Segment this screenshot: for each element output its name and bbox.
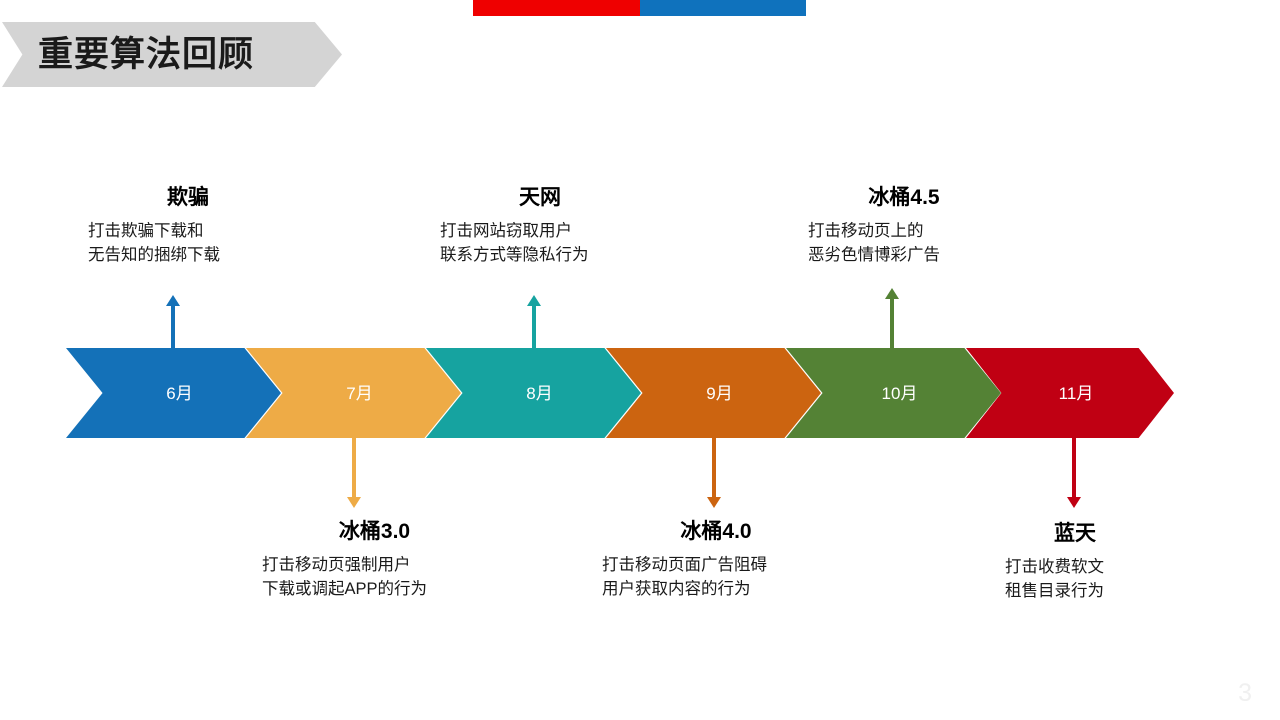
callout-bingtong-4-0: 冰桶4.0打击移动页面广告阻碍 用户获取内容的行为 <box>602 520 830 602</box>
timeline-step-6月[interactable]: 6月 <box>66 348 281 438</box>
callout-bingtong-4-5: 冰桶4.5打击移动页上的 恶劣色情博彩广告 <box>808 186 1000 268</box>
callout-heading: 冰桶3.0 <box>262 520 487 544</box>
connector-up-tianwang <box>527 295 541 350</box>
topbar-blue-segment <box>640 0 806 16</box>
callout-heading: 蓝天 <box>1005 522 1145 546</box>
callout-description: 打击移动页强制用户 下载或调起APP的行为 <box>262 554 487 602</box>
timeline-step-label: 8月 <box>526 385 552 402</box>
arrow-stem <box>352 436 356 499</box>
arrow-stem <box>890 297 894 350</box>
arrow-stem <box>712 436 716 499</box>
slide-canvas: 重要算法回顾 欺骗打击欺骗下载和 无告知的捆绑下载天网打击网站窃取用户 联系方式… <box>0 0 1280 720</box>
topbar-red-segment <box>473 0 640 16</box>
title-banner: 重要算法回顾 <box>2 22 342 87</box>
callout-tianwang: 天网打击网站窃取用户 联系方式等隐私行为 <box>440 186 640 268</box>
connector-down-lantian <box>1067 436 1081 508</box>
timeline-step-label: 11月 <box>1059 385 1094 402</box>
callout-description: 打击欺骗下载和 无告知的捆绑下载 <box>88 220 288 268</box>
callout-bingtong-3-0: 冰桶3.0打击移动页强制用户 下载或调起APP的行为 <box>262 520 487 602</box>
timeline-step-label: 6月 <box>166 385 192 402</box>
arrow-up-icon <box>527 295 541 306</box>
timeline-step-label: 7月 <box>346 385 372 402</box>
page-number: 3 <box>1238 681 1252 706</box>
callout-qipian: 欺骗打击欺骗下载和 无告知的捆绑下载 <box>88 186 288 268</box>
callout-description: 打击收费软文 租售目录行为 <box>1005 556 1145 604</box>
callout-description: 打击移动页面广告阻碍 用户获取内容的行为 <box>602 554 830 602</box>
arrow-stem <box>171 304 175 350</box>
connector-up-qipian <box>166 295 180 350</box>
callout-heading: 天网 <box>440 186 640 210</box>
timeline-chevron-bar: 6月7月8月9月10月11月 <box>66 348 1174 438</box>
connector-down-bt40 <box>707 436 721 508</box>
arrow-up-icon <box>885 288 899 299</box>
callout-heading: 冰桶4.0 <box>602 520 830 544</box>
timeline-step-label: 9月 <box>706 385 732 402</box>
arrow-stem <box>532 304 536 350</box>
timeline-step-label: 10月 <box>882 385 918 402</box>
arrow-stem <box>1072 436 1076 499</box>
connector-up-bt45 <box>885 288 899 350</box>
callout-heading: 冰桶4.5 <box>808 186 1000 210</box>
arrow-down-icon <box>707 497 721 508</box>
callout-heading: 欺骗 <box>88 186 288 210</box>
top-decorative-bar <box>473 0 806 16</box>
callout-description: 打击移动页上的 恶劣色情博彩广告 <box>808 220 1000 268</box>
arrow-down-icon <box>347 497 361 508</box>
page-title: 重要算法回顾 <box>38 37 254 72</box>
callout-description: 打击网站窃取用户 联系方式等隐私行为 <box>440 220 640 268</box>
connector-down-bt30 <box>347 436 361 508</box>
arrow-up-icon <box>166 295 180 306</box>
callout-lantian: 蓝天打击收费软文 租售目录行为 <box>1005 522 1145 604</box>
arrow-down-icon <box>1067 497 1081 508</box>
